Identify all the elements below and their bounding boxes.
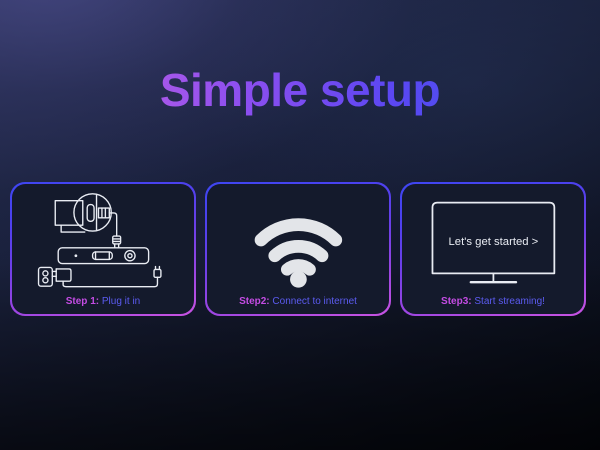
- power-cable-plug: [154, 269, 161, 277]
- power-port: [124, 250, 134, 260]
- hdmi-port: [87, 204, 94, 221]
- step-1-text: Plug it in: [99, 296, 140, 307]
- step-3-text: Start streaming!: [472, 296, 545, 307]
- wifi-arc-inner: [287, 265, 310, 269]
- step-card-2-caption: Step2: Connect to internet: [207, 296, 390, 308]
- hdmi-connector-body: [98, 208, 109, 218]
- step-card-2[interactable]: Step2: Connect to internet: [205, 182, 391, 316]
- wifi-arc-outer: [261, 224, 336, 239]
- power-cable: [63, 277, 157, 286]
- step-card-1[interactable]: Step 1: Plug it in: [10, 182, 196, 316]
- step-card-1-caption: Step 1: Plug it in: [12, 296, 195, 308]
- step-3-label: Step3:: [441, 296, 472, 307]
- steps-card-row: Step 1: Plug it in: [10, 182, 590, 316]
- hdmi-connector-ridges: [102, 208, 105, 218]
- wifi-illustration: [207, 184, 390, 292]
- step-2-label: Step2:: [239, 296, 270, 307]
- tv-stand-edge: [61, 225, 85, 232]
- step-card-2-inner: Step2: Connect to internet: [207, 184, 390, 315]
- slide-canvas: Simple setup: [0, 0, 600, 450]
- plug-it-in-illustration: [12, 184, 195, 292]
- step-card-3-inner: Let's get started > Step3: Start streami…: [402, 184, 585, 315]
- step-2-text: Connect to internet: [270, 296, 357, 307]
- page-title: Simple setup: [0, 63, 600, 117]
- power-port-pin: [127, 253, 131, 257]
- tv-illustration: Let's get started >: [402, 184, 585, 292]
- screen-cta-text[interactable]: Let's get started >: [448, 236, 538, 248]
- step-card-3-caption: Step3: Start streaming!: [402, 296, 585, 308]
- hdmi-plug-ridges: [113, 239, 119, 241]
- led-indicator: [74, 254, 77, 257]
- outlet-socket-top: [42, 270, 47, 275]
- step-card-1-inner: Step 1: Plug it in: [12, 184, 195, 315]
- step-card-3[interactable]: Let's get started > Step3: Start streami…: [400, 182, 586, 316]
- step-1-label: Step 1:: [66, 296, 99, 307]
- adapter-body-edge: [56, 269, 63, 281]
- wifi-dot: [290, 271, 307, 288]
- hdmi-plug-head: [112, 236, 120, 244]
- tv-back-panel: [55, 200, 83, 225]
- box-hdmi-port-detail: [95, 252, 109, 259]
- outlet-socket-bottom: [42, 277, 47, 282]
- wifi-arc-middle: [274, 246, 321, 255]
